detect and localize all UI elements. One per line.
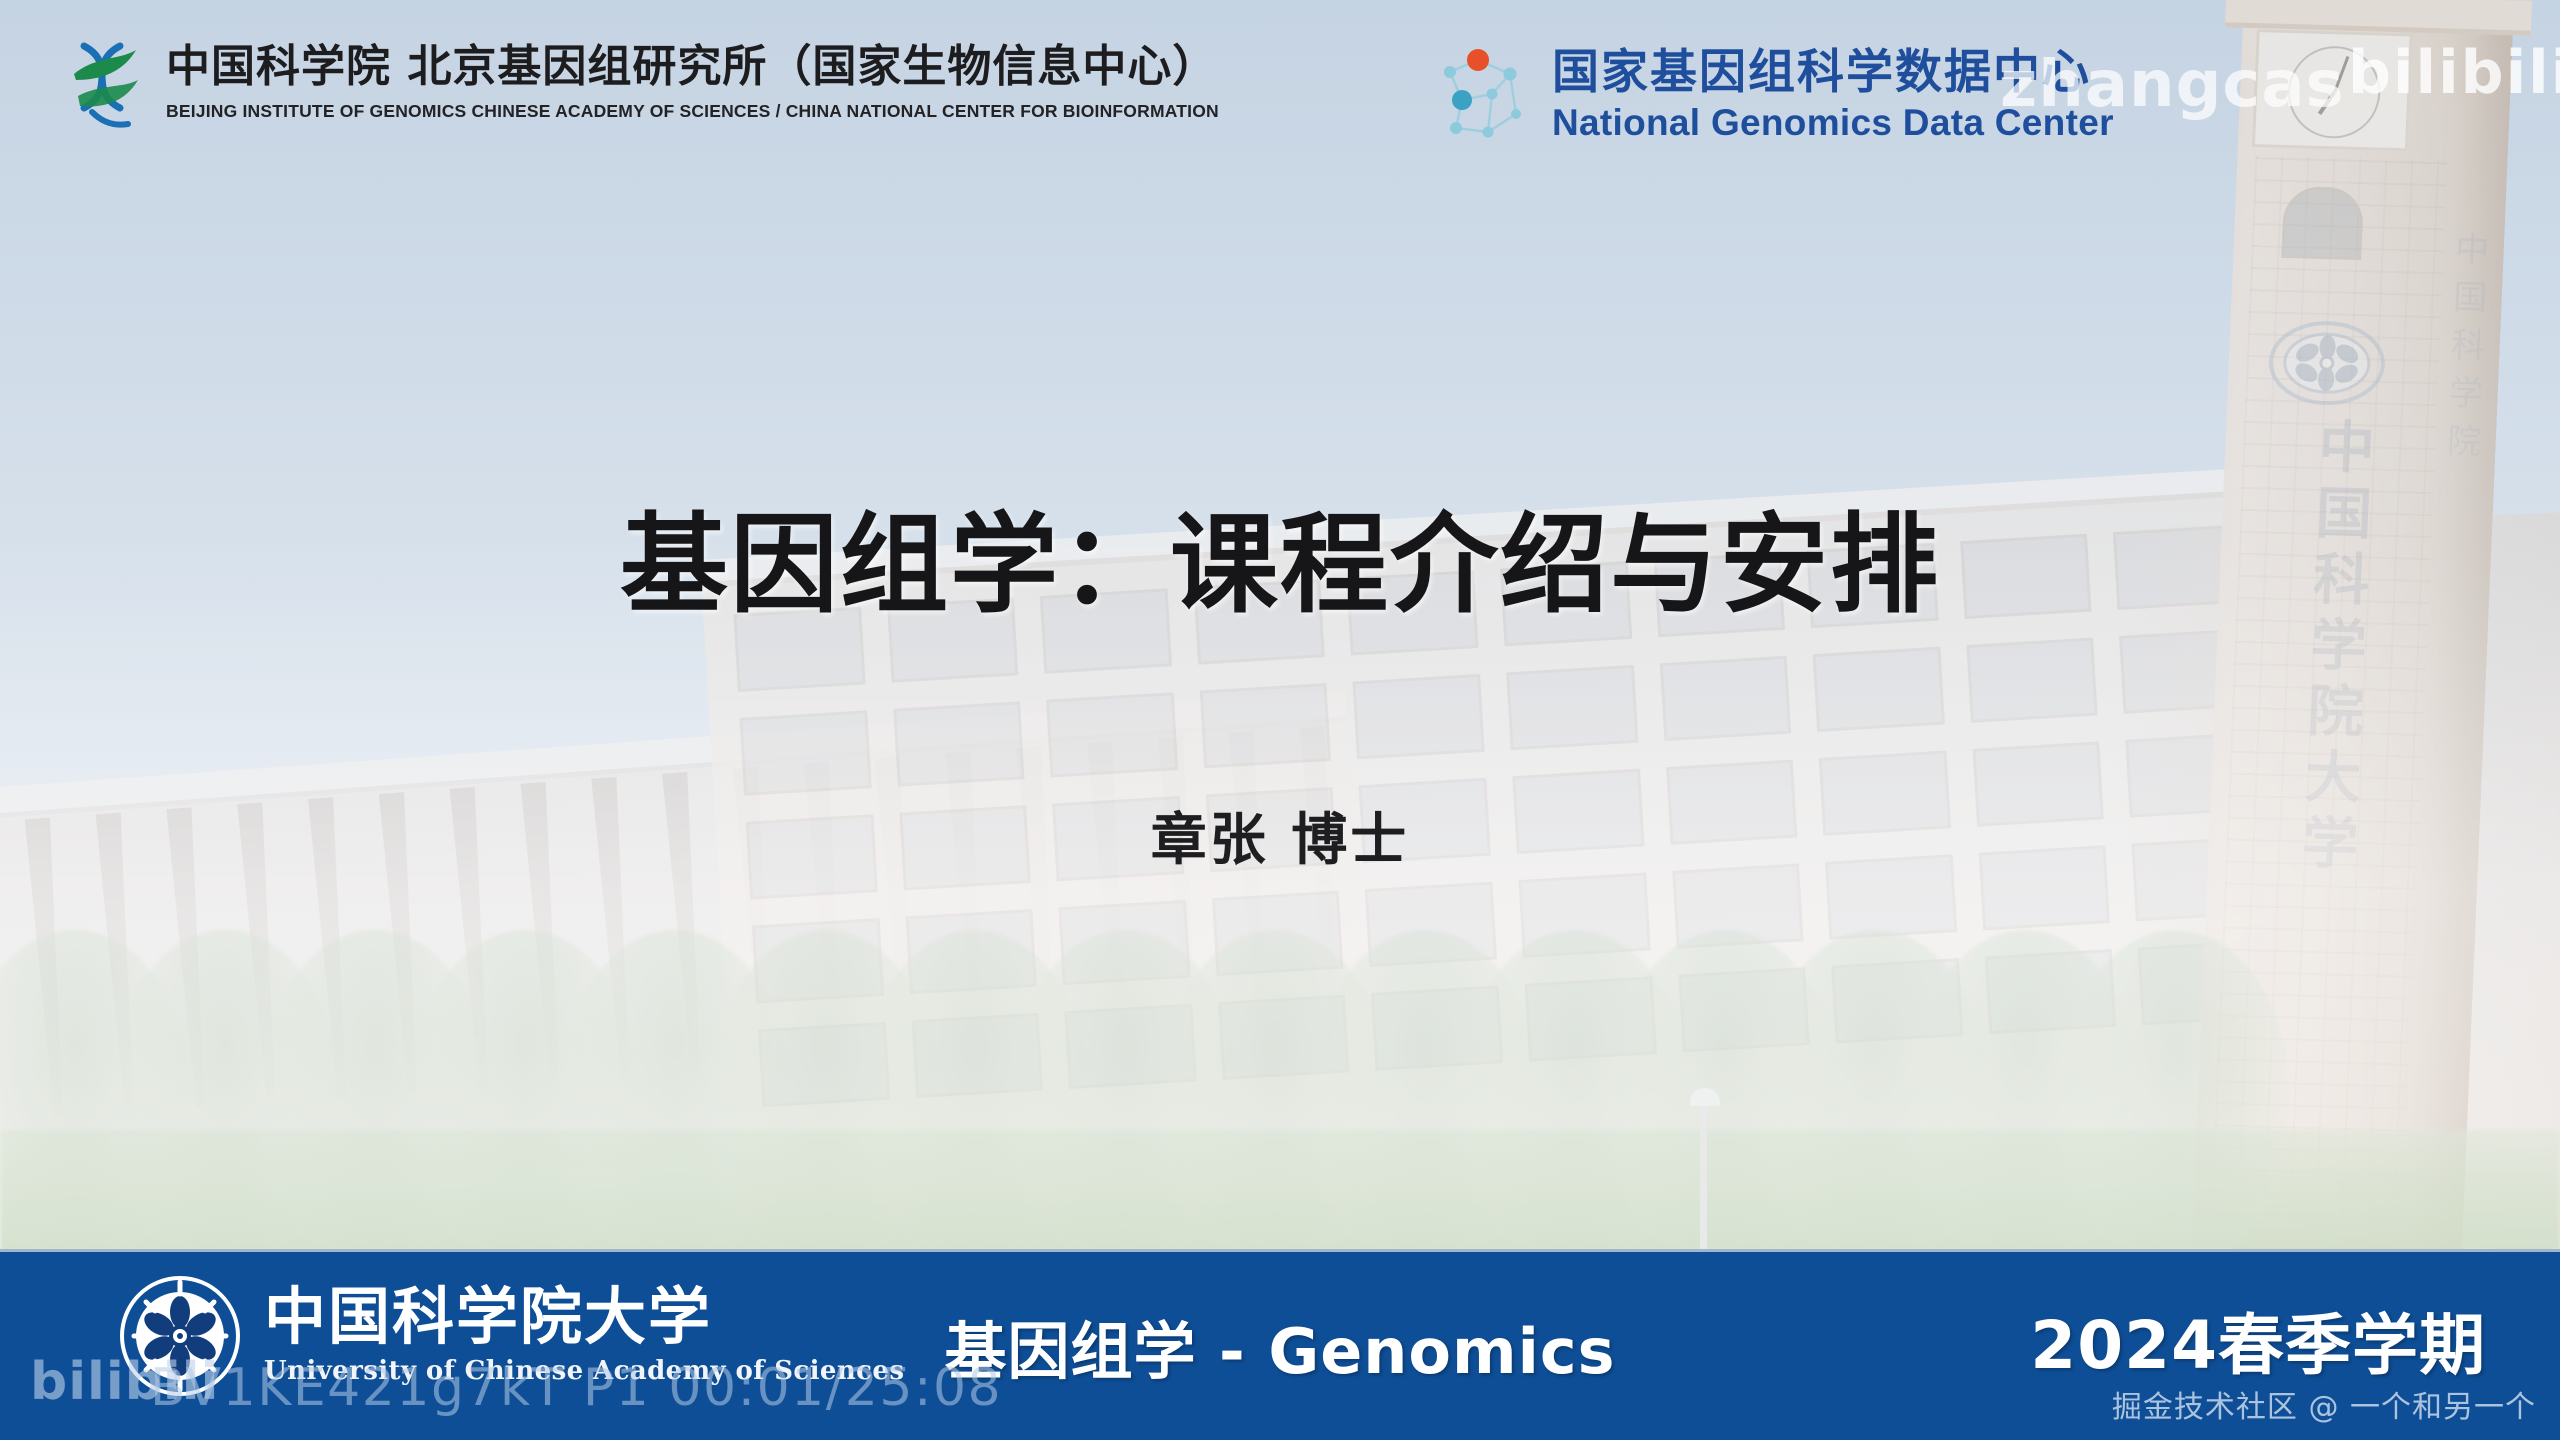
ucas-name-en: University of Chinese Academy of Science… xyxy=(264,1356,904,1386)
ucas-name-cn: 中国科学院大学 xyxy=(264,1282,904,1351)
molecule-network-icon xyxy=(1432,44,1536,148)
slide-presenter: 章张 博士 xyxy=(0,795,2560,876)
ucas-logo-text: 中国科学院大学 University of Chinese Academy of… xyxy=(264,1282,904,1389)
background-photo: 中国科学院大学 中国科学院 xyxy=(0,0,2560,1440)
ngdc-logo-text: 国家基因组科学数据中心 National Genomics Data Cente… xyxy=(1552,47,2114,144)
big-cas-logo: 中国科学院 北京基因组研究所（国家生物信息中心） BEIJING INSTITU… xyxy=(62,38,1219,132)
footer-term: 2024春季学期 xyxy=(2030,1292,2486,1388)
ngdc-logo: 国家基因组科学数据中心 National Genomics Data Cente… xyxy=(1432,44,2114,148)
tree-row xyxy=(0,880,2160,1260)
big-cas-logo-cn: 中国科学院 北京基因组研究所（国家生物信息中心） xyxy=(166,42,1219,93)
juejin-watermark: 掘金技术社区 @ 一个和另一个 xyxy=(2112,1382,2536,1426)
clock-face-panel xyxy=(2252,29,2413,151)
slide-title: 基因组学：课程介绍与安排 xyxy=(0,478,2560,634)
ngdc-logo-cn: 国家基因组科学数据中心 xyxy=(1552,47,2114,100)
ngdc-logo-en: National Genomics Data Center xyxy=(1552,102,2114,145)
street-lamp xyxy=(1700,1100,1707,1250)
clock-icon xyxy=(2286,45,2382,139)
tower-arch-window xyxy=(2281,186,2364,260)
dna-helix-icon xyxy=(62,40,148,132)
tower-emblem-icon xyxy=(2265,316,2389,411)
ucas-logo: 中国科学院大学 University of Chinese Academy of… xyxy=(118,1274,904,1398)
tower-vertical-text-right: 中国科学院 xyxy=(2424,230,2490,471)
big-cas-logo-text: 中国科学院 北京基因组研究所（国家生物信息中心） BEIJING INSTITU… xyxy=(166,38,1219,122)
slide-canvas: 中国科学院大学 中国科学院 中国科学院 北京基因组研究所（国家生物信息中心） B… xyxy=(0,0,2560,1440)
big-cas-logo-en: BEIJING INSTITUTE OF GENOMICS CHINESE AC… xyxy=(166,101,1219,122)
footer-course-name: 基因组学 - Genomics xyxy=(944,1301,1615,1391)
ucas-seal-icon xyxy=(118,1274,242,1398)
footer-bar: 中国科学院大学 University of Chinese Academy of… xyxy=(0,1249,2560,1440)
